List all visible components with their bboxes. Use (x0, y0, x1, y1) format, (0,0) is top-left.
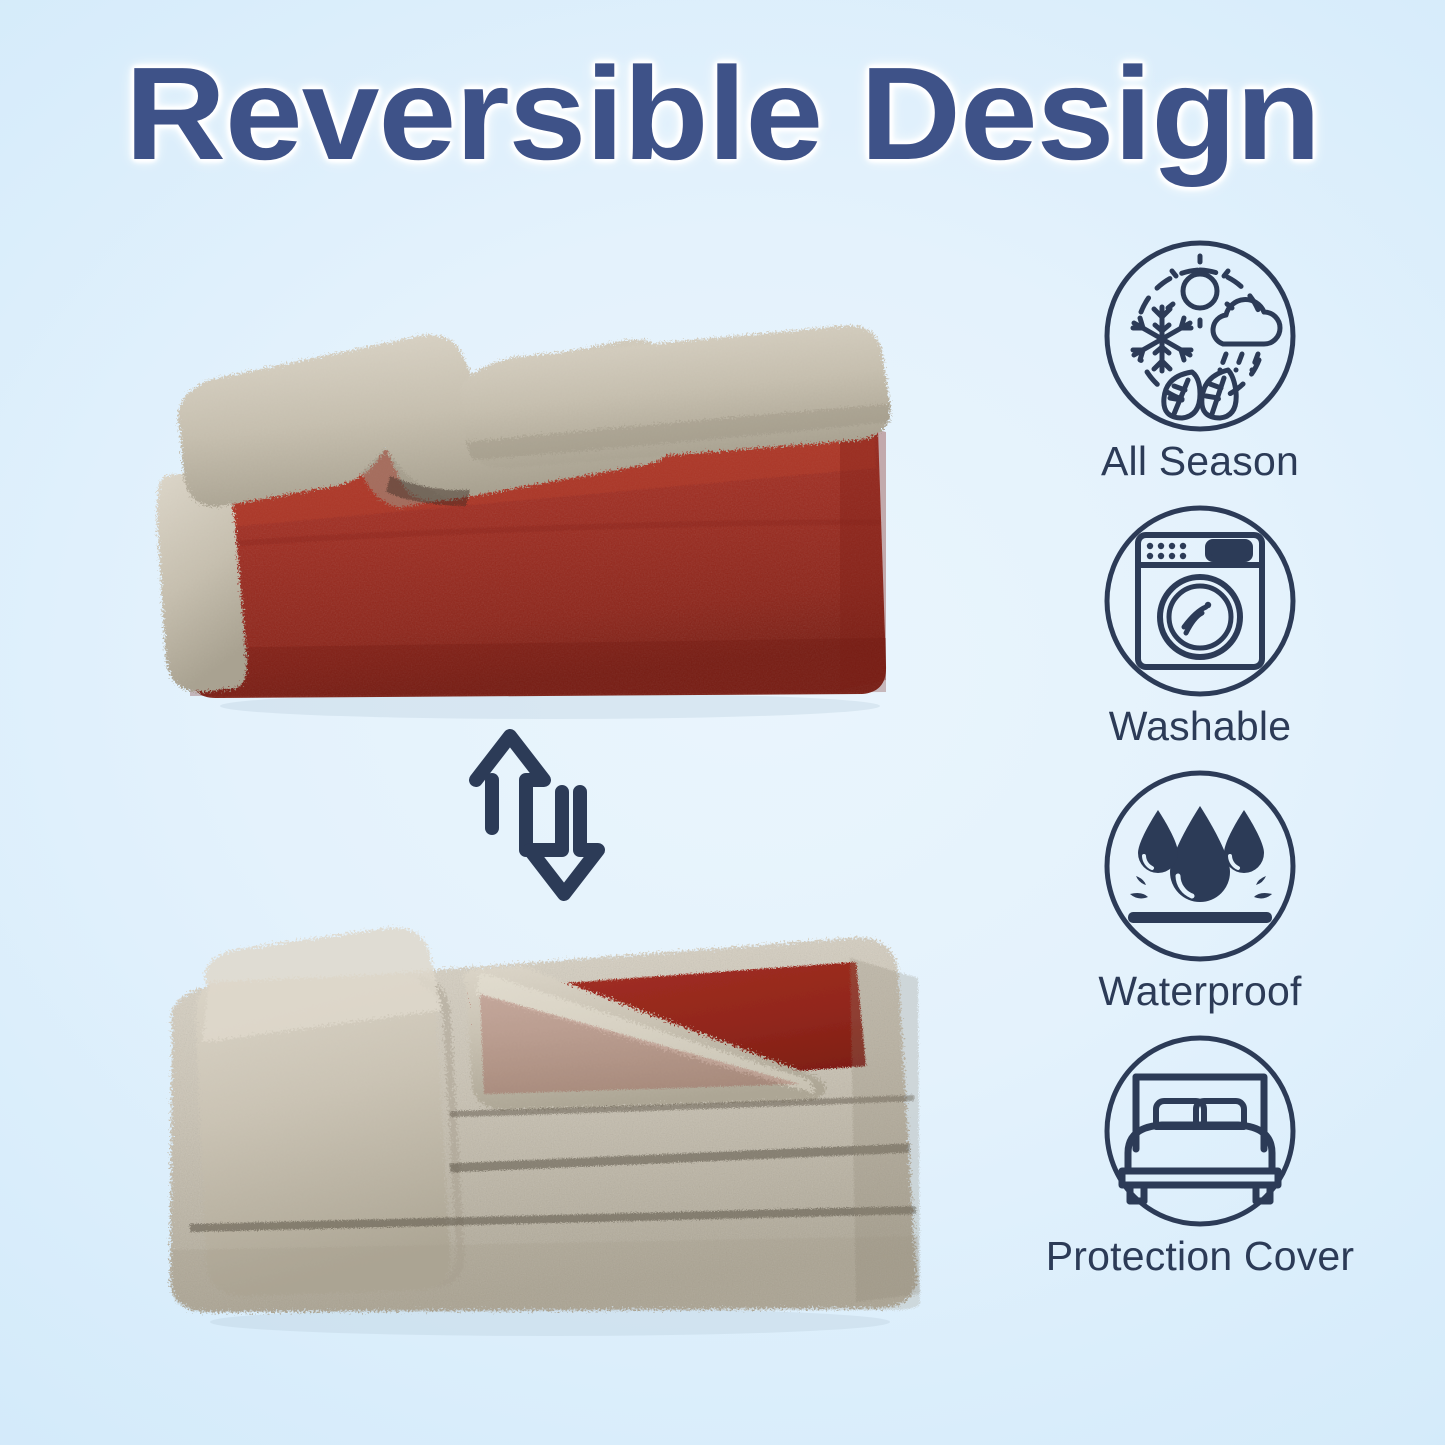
product-photo-fleece-side (150, 300, 910, 720)
product-photo-sherpa-side (150, 898, 940, 1338)
up-down-arrow-icon (462, 722, 614, 908)
bed-icon (1100, 1031, 1300, 1231)
feature-label-waterproof: Waterproof (1000, 970, 1400, 1013)
feature-item-protection-cover: Protection Cover (1000, 1031, 1400, 1278)
feature-label-washable: Washable (1000, 705, 1400, 748)
marketing-image: Reversible Design (0, 0, 1445, 1445)
washing-machine-icon (1100, 501, 1300, 701)
all-season-icon (1100, 236, 1300, 436)
feature-label-all-season: All Season (1000, 440, 1400, 483)
page-title: Reversible Design (0, 48, 1445, 180)
feature-item-waterproof: Waterproof (1000, 766, 1400, 1013)
water-drops-icon (1100, 766, 1300, 966)
feature-list: All Season (1000, 236, 1400, 1296)
feature-item-all-season: All Season (1000, 236, 1400, 483)
feature-item-washable: Washable (1000, 501, 1400, 748)
feature-label-protection-cover: Protection Cover (1000, 1235, 1400, 1278)
